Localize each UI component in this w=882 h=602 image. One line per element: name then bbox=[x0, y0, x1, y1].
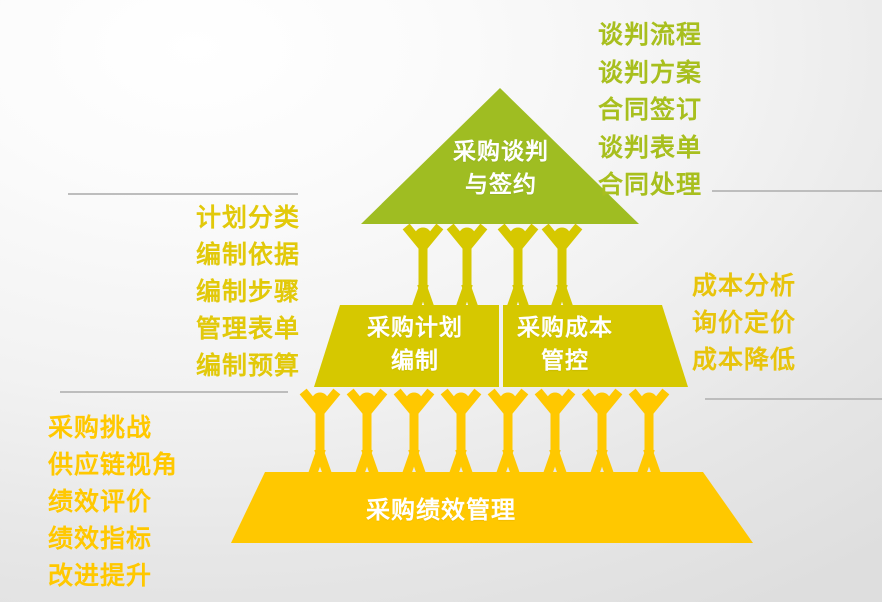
person-head-icon bbox=[500, 393, 517, 410]
label-group-performance: 采购挑战 供应链视角 绩效评价 绩效指标 改进提升 bbox=[48, 409, 178, 594]
label-negotiation-form: 谈判表单 bbox=[598, 129, 702, 167]
tier-middle-right-label-line2: 管控 bbox=[465, 345, 665, 378]
label-plan-steps: 编制步骤 bbox=[196, 273, 300, 310]
label-supply-chain-view: 供应链视角 bbox=[48, 446, 178, 483]
tier-top-label-line1: 采购谈判 bbox=[401, 136, 601, 169]
person-head-icon bbox=[594, 393, 611, 410]
person-head-icon bbox=[415, 228, 432, 245]
label-group-cost: 成本分析 询价定价 成本降低 bbox=[692, 267, 796, 378]
label-cost-reduction: 成本降低 bbox=[692, 341, 796, 378]
figure-row-upper bbox=[409, 228, 576, 309]
label-contract-signing: 合同签订 bbox=[598, 91, 702, 129]
person-head-icon bbox=[510, 228, 527, 245]
label-management-form: 管理表单 bbox=[196, 310, 300, 347]
label-cost-analysis: 成本分析 bbox=[692, 267, 796, 304]
label-negotiation-process: 谈判流程 bbox=[598, 16, 702, 54]
diagram-canvas: 采购谈判 与签约 采购计划 编制 采购成本 管控 采购绩效管理 谈判流程 谈判方… bbox=[0, 0, 882, 602]
person-head-icon bbox=[459, 228, 476, 245]
label-group-plan: 计划分类 编制依据 编制步骤 管理表单 编制预算 bbox=[40, 199, 300, 384]
label-performance-eval: 绩效评价 bbox=[48, 483, 152, 520]
person-head-icon bbox=[312, 393, 329, 410]
figure-row-lower bbox=[306, 393, 663, 474]
tier-middle-right-label-line1: 采购成本 bbox=[465, 312, 665, 345]
label-negotiation-plan: 谈判方案 bbox=[598, 54, 702, 92]
label-improvement: 改进提升 bbox=[48, 557, 152, 594]
person-head-icon bbox=[554, 228, 571, 245]
label-inquiry-pricing: 询价定价 bbox=[692, 304, 796, 341]
label-plan-basis: 编制依据 bbox=[196, 236, 300, 273]
person-head-icon bbox=[359, 393, 376, 410]
label-performance-indicator: 绩效指标 bbox=[48, 520, 152, 557]
person-head-icon bbox=[453, 393, 470, 410]
label-procurement-challenge: 采购挑战 bbox=[48, 409, 152, 446]
label-contract-processing: 合同处理 bbox=[598, 166, 702, 204]
person-head-icon bbox=[406, 393, 423, 410]
label-group-negotiation: 谈判流程 谈判方案 合同签订 谈判表单 合同处理 bbox=[598, 16, 702, 204]
person-head-icon bbox=[641, 393, 658, 410]
tier-top-label-line2: 与签约 bbox=[401, 169, 601, 202]
person-head-icon bbox=[547, 393, 564, 410]
tier-base-label: 采购绩效管理 bbox=[341, 494, 541, 527]
tier-middle-right-label: 采购成本 管控 bbox=[465, 312, 665, 378]
tier-top-label: 采购谈判 与签约 bbox=[401, 136, 601, 202]
label-budget-preparation: 编制预算 bbox=[196, 347, 300, 384]
label-plan-classification: 计划分类 bbox=[196, 199, 300, 236]
tier-base-label-line1: 采购绩效管理 bbox=[341, 494, 541, 527]
